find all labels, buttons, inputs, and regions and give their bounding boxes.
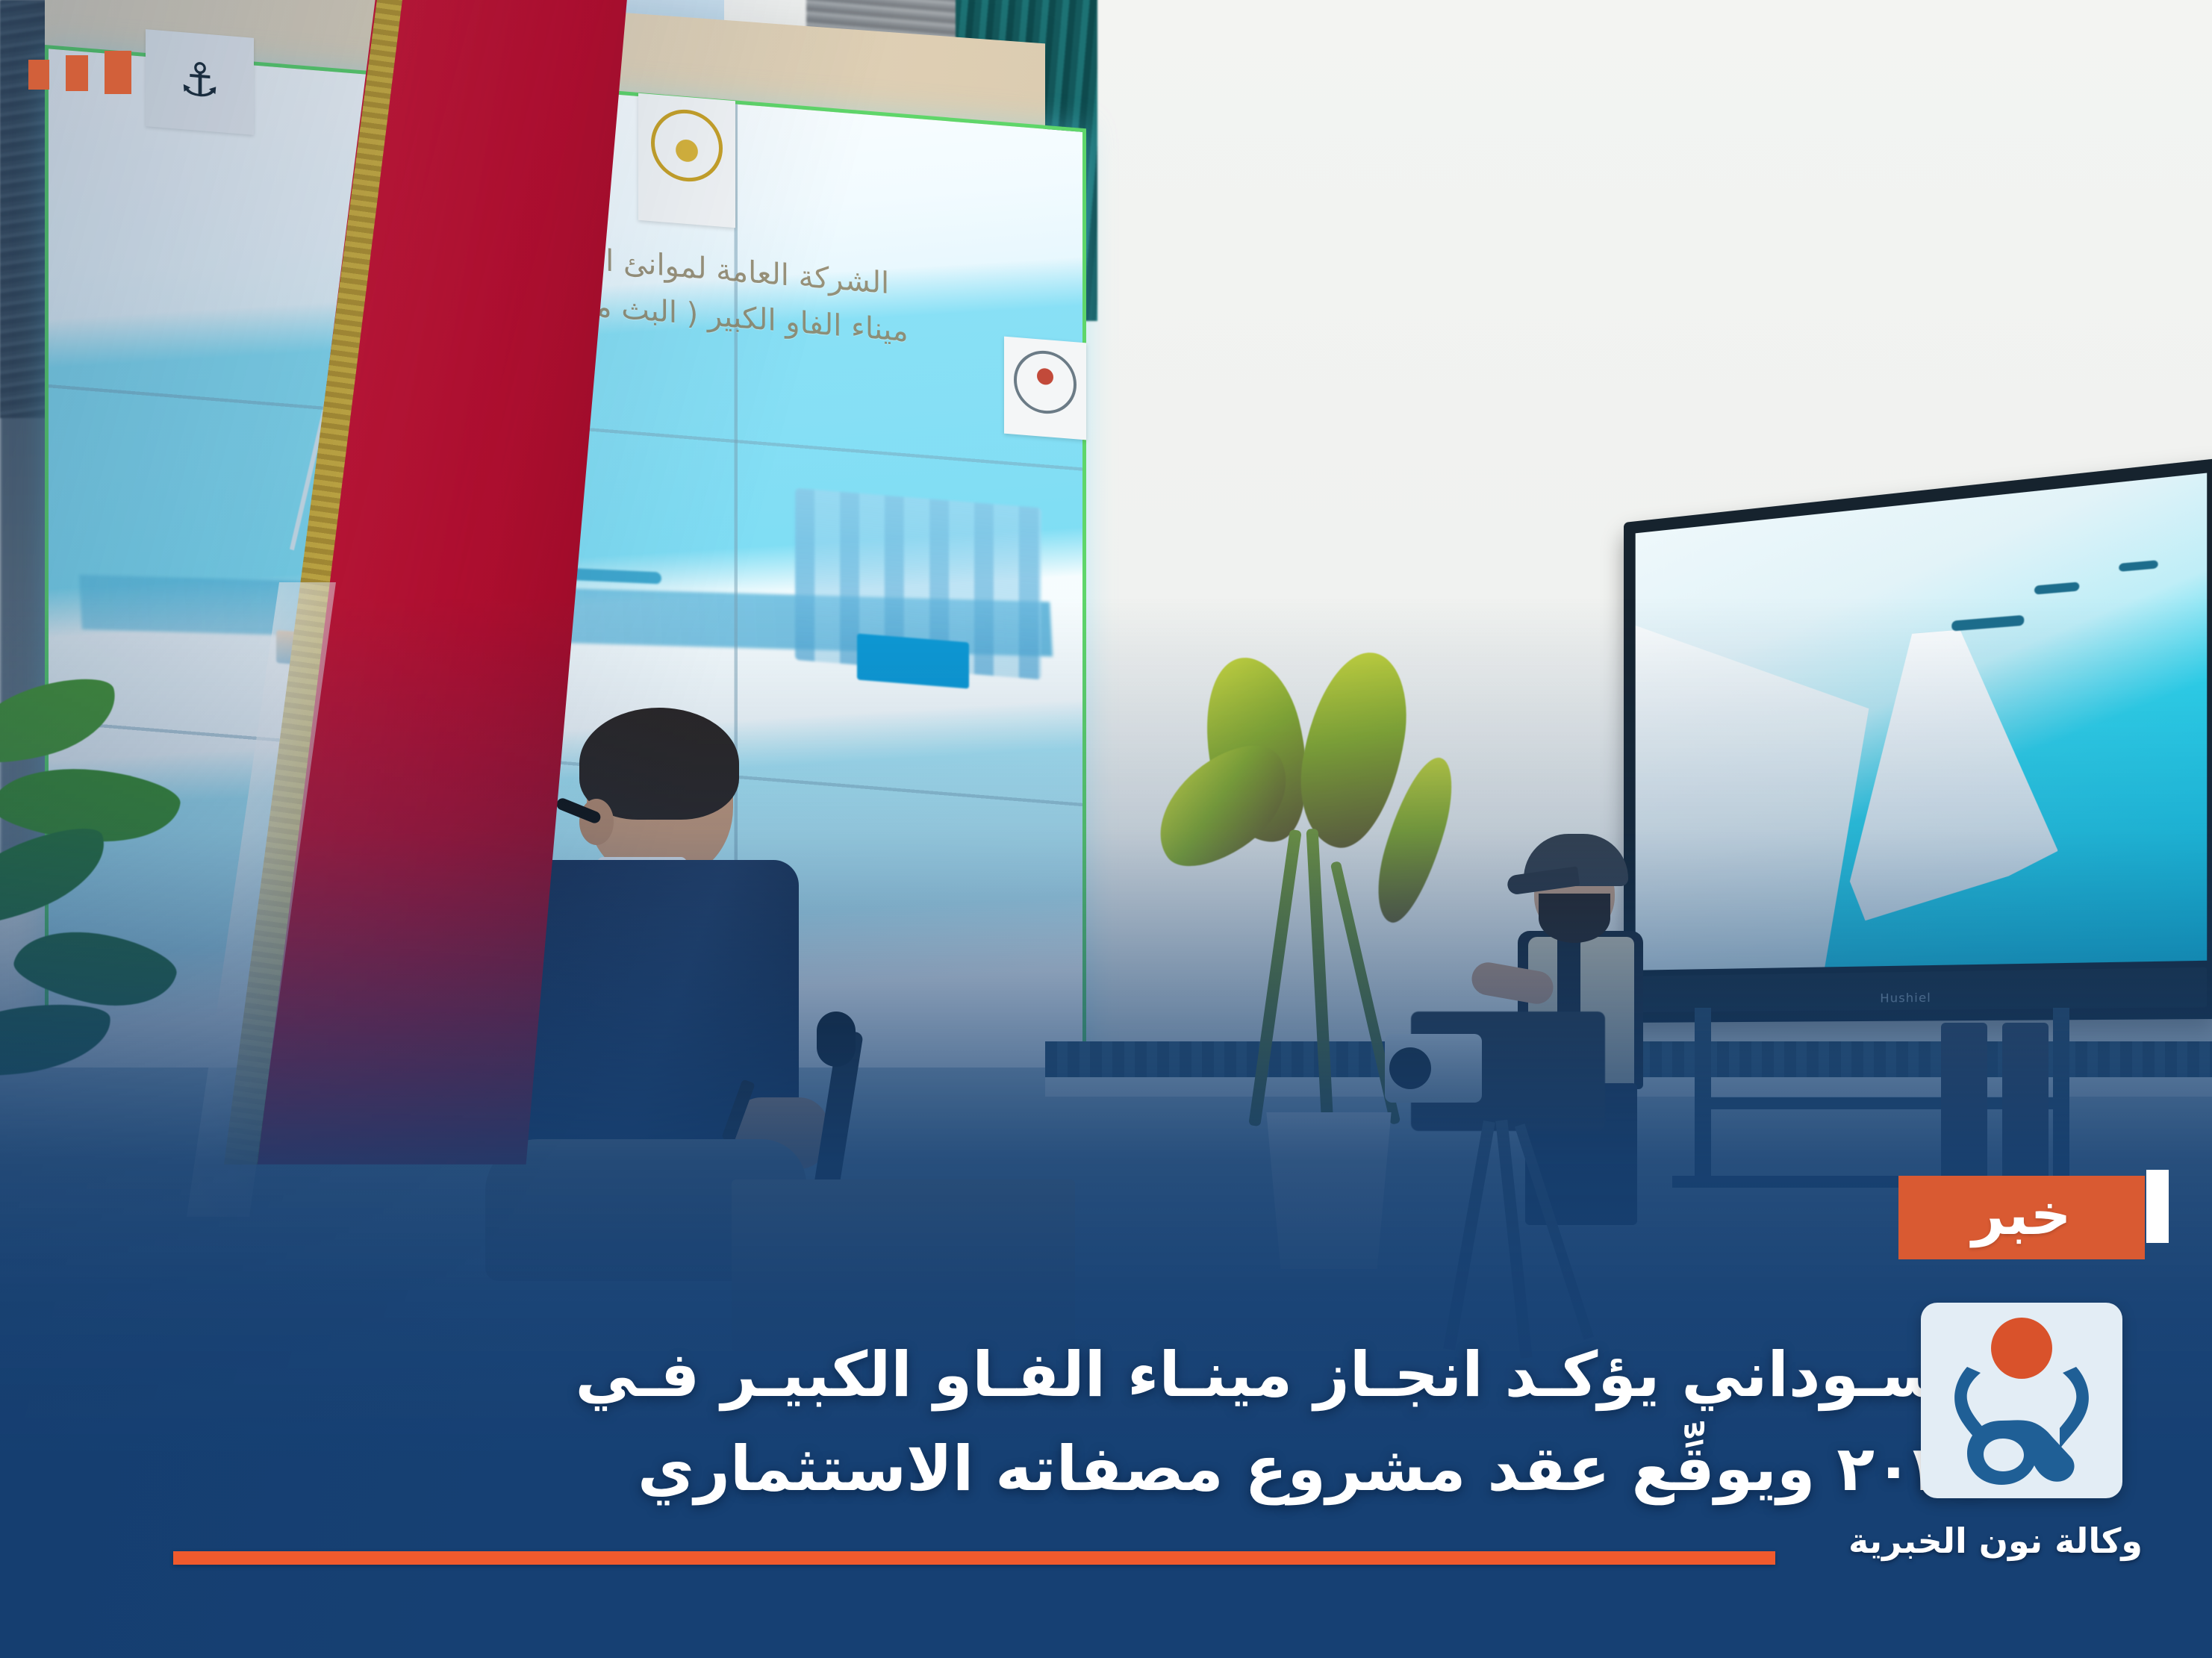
corner-bar-3	[28, 60, 49, 90]
brand-name: وكالة نون الخبرية	[1846, 1521, 2145, 1561]
news-card: الشركة العامة لموانئ العراق ميناء الفاو …	[0, 0, 2212, 1658]
headline-line-2: ٢٠٢٥ ويوقِّع عقد مشروع مصفاته الاستثماري	[90, 1422, 1988, 1516]
news-badge-label: خبر	[1972, 1186, 2071, 1249]
corner-bar-decoration	[28, 51, 131, 94]
corner-bar-2	[66, 55, 88, 91]
noon-agency-logo-icon	[1921, 1303, 2122, 1498]
news-badge-tick	[2146, 1170, 2169, 1243]
logo-mark-svg	[1921, 1303, 2122, 1498]
headline-line-1: السـوداني يؤكـد انجـاز مينـاء الفـاو الك…	[90, 1328, 1988, 1422]
bottom-rule	[173, 1551, 1775, 1565]
brand-block: خبر وكالة نون الخبرية	[1846, 1176, 2145, 1561]
headline: السـوداني يؤكـد انجـاز مينـاء الفـاو الك…	[90, 1328, 1988, 1516]
news-badge: خبر	[1898, 1176, 2145, 1259]
corner-bar-1	[105, 51, 131, 94]
